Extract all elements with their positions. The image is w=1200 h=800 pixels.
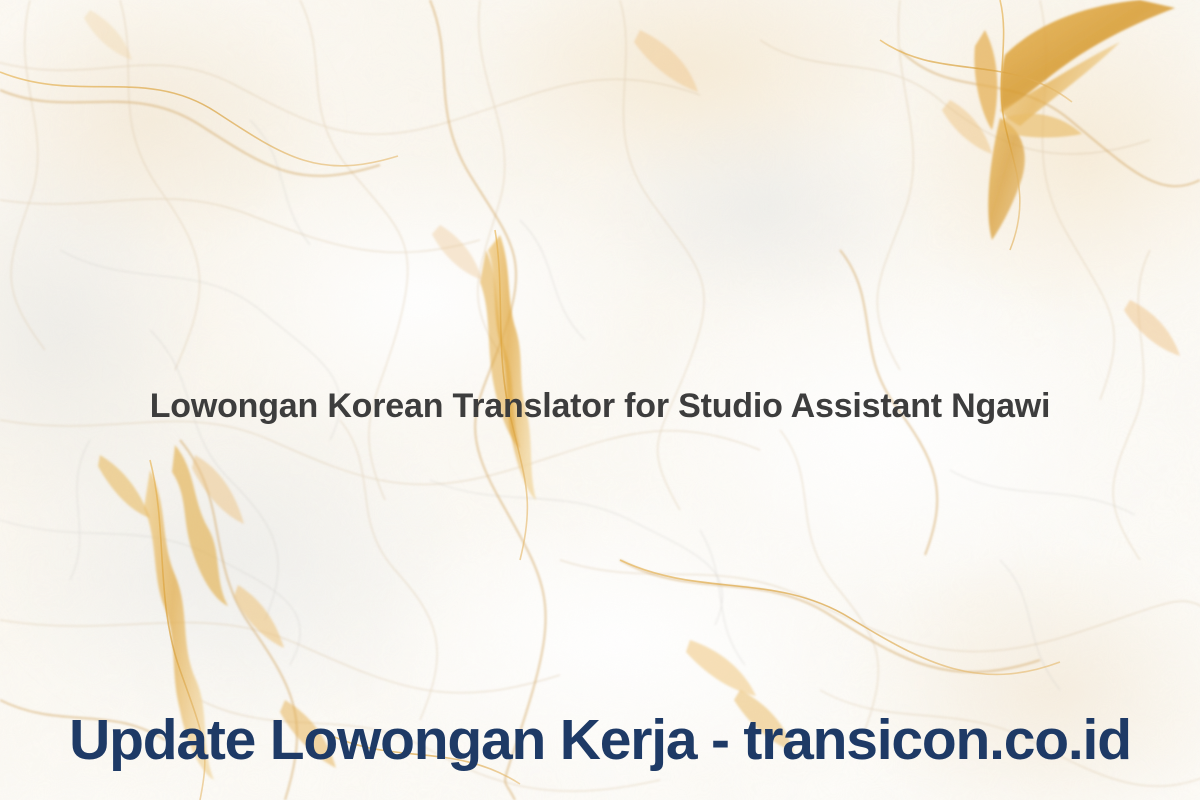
job-vacancy-banner: Lowongan Korean Translator for Studio As…: [0, 0, 1200, 800]
banner-text-layer: Lowongan Korean Translator for Studio As…: [0, 0, 1200, 800]
page-title: Lowongan Korean Translator for Studio As…: [0, 386, 1200, 426]
site-tagline: Update Lowongan Kerja - transicon.co.id: [0, 706, 1200, 774]
